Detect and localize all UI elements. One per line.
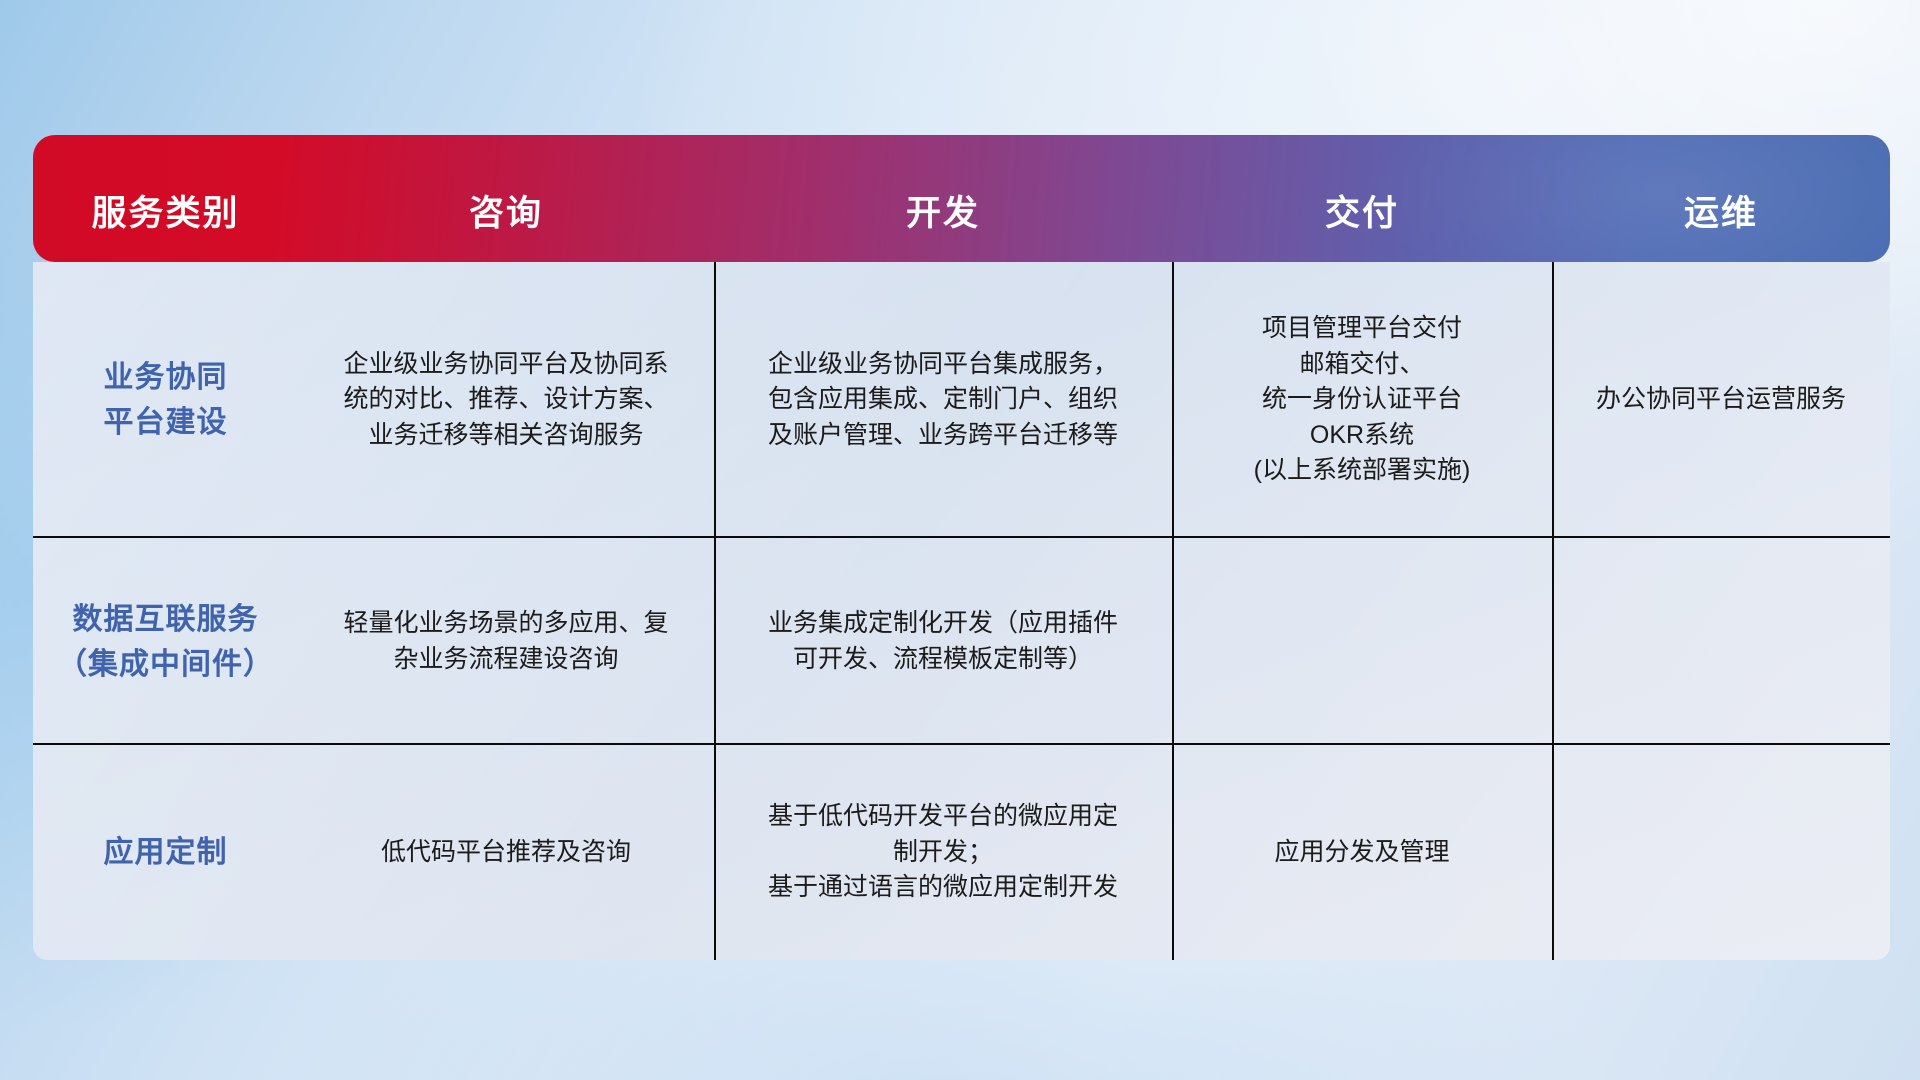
column-header-operations: 运维 xyxy=(1552,185,1890,262)
row-category-label: 业务协同 平台建设 xyxy=(33,262,298,538)
column-header-service-category: 服务类别 xyxy=(33,185,298,262)
column-header-development: 开发 xyxy=(714,185,1172,262)
service-matrix-table: 服务类别 咨询 开发 交付 运维 业务协同 平台建设 企业级业务协同平台及协同系… xyxy=(33,135,1890,960)
cell-delivery xyxy=(1172,538,1552,745)
cell-delivery: 项目管理平台交付 邮箱交付、 统一身份认证平台 OKR系统 (以上系统部署实施) xyxy=(1172,262,1552,538)
cell-consulting: 轻量化业务场景的多应用、复 杂业务流程建设咨询 xyxy=(298,538,714,745)
cell-development: 业务集成定制化开发（应用插件 可开发、流程模板定制等） xyxy=(714,538,1172,745)
cell-delivery: 应用分发及管理 xyxy=(1172,745,1552,960)
column-divider-1 xyxy=(714,262,716,960)
table-row: 数据互联服务 （集成中间件） 轻量化业务场景的多应用、复 杂业务流程建设咨询 业… xyxy=(33,538,1890,745)
cell-operations xyxy=(1552,538,1890,745)
column-header-delivery: 交付 xyxy=(1172,185,1552,262)
row-category-label: 数据互联服务 （集成中间件） xyxy=(33,538,298,745)
cell-development: 基于低代码开发平台的微应用定 制开发； 基于通过语言的微应用定制开发 xyxy=(714,745,1172,960)
cell-development: 企业级业务协同平台集成服务， 包含应用集成、定制门户、组织 及账户管理、业务跨平… xyxy=(714,262,1172,538)
cell-operations: 办公协同平台运营服务 xyxy=(1552,262,1890,538)
column-header-consulting: 咨询 xyxy=(298,185,714,262)
column-divider-2 xyxy=(1172,262,1174,960)
row-category-label: 应用定制 xyxy=(33,745,298,960)
table-row: 业务协同 平台建设 企业级业务协同平台及协同系 统的对比、推荐、设计方案、 业务… xyxy=(33,262,1890,538)
table-row: 应用定制 低代码平台推荐及咨询 基于低代码开发平台的微应用定 制开发； 基于通过… xyxy=(33,745,1890,960)
cell-consulting: 低代码平台推荐及咨询 xyxy=(298,745,714,960)
cell-operations xyxy=(1552,745,1890,960)
table-header-row: 服务类别 咨询 开发 交付 运维 xyxy=(33,135,1890,262)
cell-consulting: 企业级业务协同平台及协同系 统的对比、推荐、设计方案、 业务迁移等相关咨询服务 xyxy=(298,262,714,538)
column-divider-3 xyxy=(1552,262,1554,960)
table-body: 业务协同 平台建设 企业级业务协同平台及协同系 统的对比、推荐、设计方案、 业务… xyxy=(33,262,1890,960)
